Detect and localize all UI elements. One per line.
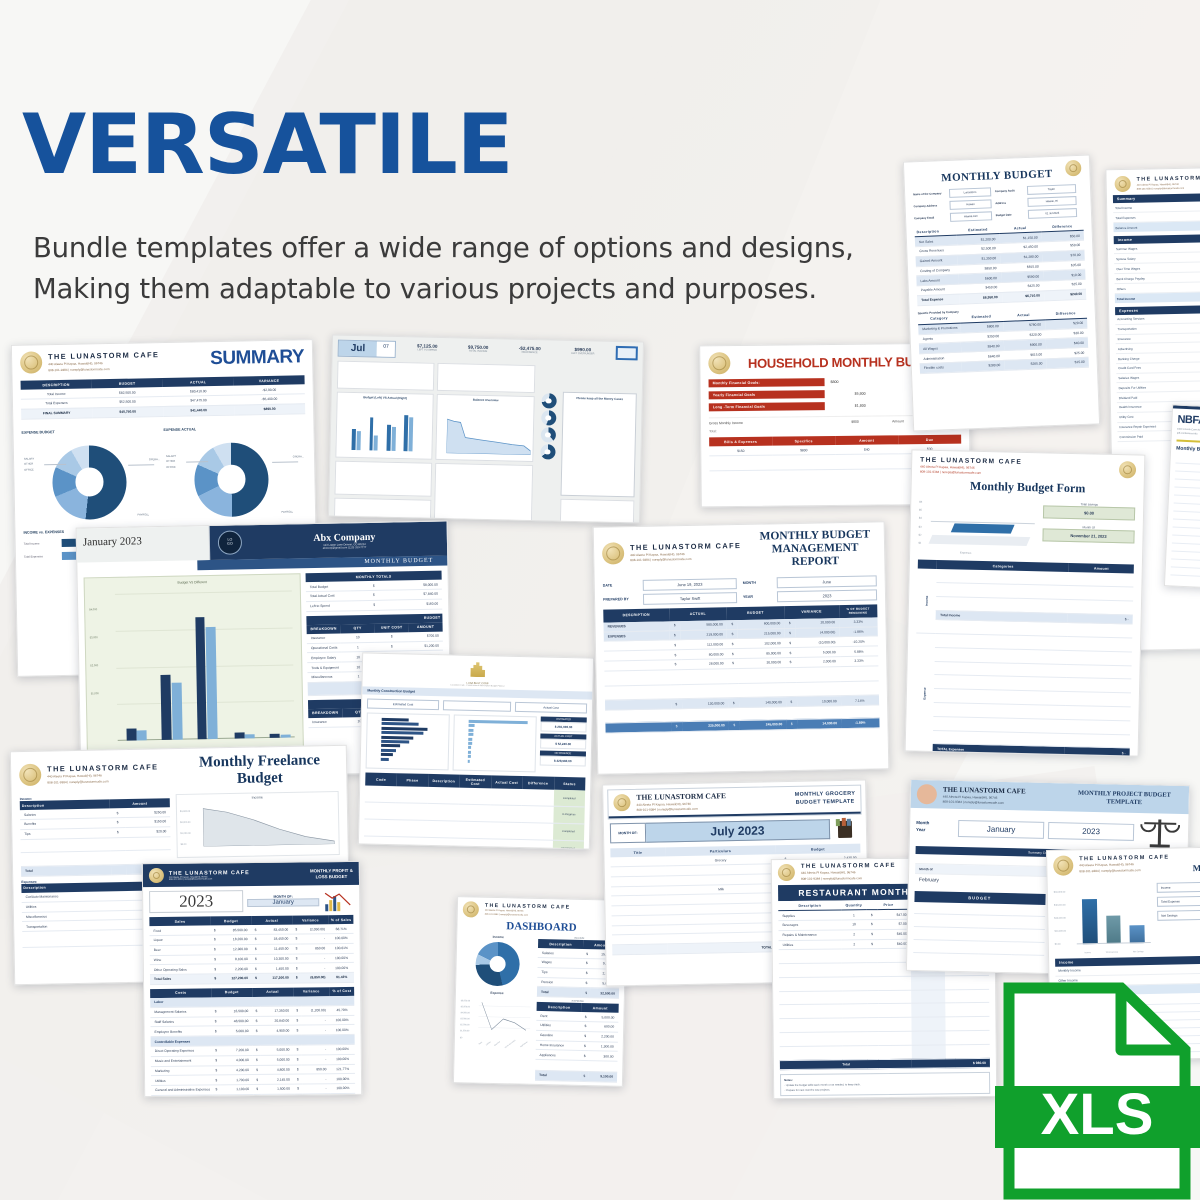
template-construction-budget[interactable]: LUNA BUILT CORP Lunastorm Cafe · Constru… [358, 652, 594, 849]
cell: $ [867, 920, 878, 930]
th: Quantity [841, 900, 866, 910]
cell: $ [866, 910, 877, 920]
pl-banner-1: MONTHLY PROFIT & [310, 868, 353, 874]
table-total-row: Total$9,100.00 [535, 1070, 617, 1082]
kpi-label: TOTAL INCOME [468, 350, 489, 353]
field-value[interactable]: 01 Jul 2023 [1028, 208, 1077, 219]
th: Status [554, 777, 586, 791]
cell: $ [670, 640, 681, 650]
cell: $ [293, 973, 301, 983]
cell: $ [785, 648, 796, 658]
construction-table: Code Phase Description Estimated Cost Ac… [364, 772, 586, 849]
headline-block: VERSATILE [22, 106, 513, 185]
lunastorm-logo-icon [1119, 461, 1136, 478]
cell: 100.00% [329, 933, 354, 943]
field-label: YEAR [743, 595, 773, 600]
y-tick: $3 [919, 523, 922, 531]
cell: $ [867, 929, 878, 939]
field-value[interactable]: Hawaii.com [950, 211, 992, 222]
expense-actual-legend: SALARY OTHER OFFICE [166, 453, 177, 471]
x-tick: Home Insurance [504, 1040, 516, 1049]
template-profit-loss-budget[interactable]: THE LUNASTORM CAFE 440 Aleeta Pl Kapaa, … [142, 861, 362, 1097]
cell: $ [212, 1046, 220, 1056]
kpi-value: $ 281,000.00 [540, 721, 586, 732]
cell: Tools & Equipment [307, 662, 341, 672]
grocery-bag-icon [830, 819, 860, 840]
field[interactable]: Net Savings [1157, 909, 1200, 921]
real-row-label: Monthly Income [1058, 968, 1081, 972]
goal-value: $800 [831, 380, 839, 384]
cell: $ [252, 964, 260, 974]
estimated-cost-button[interactable]: Estimated Cost [367, 699, 439, 711]
cell: 600.00 [589, 1022, 618, 1032]
cell: $ [581, 1051, 589, 1061]
cell: (1,200.00) [301, 1006, 330, 1016]
cell: $265.00 [1004, 359, 1047, 370]
expense-fixed-panel [437, 363, 536, 393]
nbfa-subtitle: Monthly Budget [1176, 445, 1200, 454]
goal-label: Monthly Financial Goals: [709, 378, 825, 387]
cell: 5,000.00 [261, 1045, 294, 1055]
cell: 7,200.00 [220, 1045, 253, 1055]
cell: $ [784, 628, 795, 638]
cell: $ [580, 1071, 588, 1081]
cell: 2,200.00 [589, 1031, 618, 1041]
month-value[interactable]: January [247, 898, 319, 907]
cell: $ [211, 964, 219, 974]
kpi-value: $ 52,240.00 [540, 738, 586, 749]
cell: Other Operating Sales [150, 964, 211, 974]
ledger-total-row: Total Income [1115, 292, 1200, 303]
x-tick: Total Expense [1106, 951, 1119, 953]
cell: $ [293, 1016, 301, 1026]
y-tick: $30,000.00 [1054, 899, 1066, 912]
cell: Employee Benefits [150, 1026, 211, 1036]
cell: 85,500.00 [219, 925, 252, 935]
goal-value: $1,800 [855, 404, 866, 408]
cell: $6,950.00 [959, 292, 1002, 303]
cell: $ [293, 954, 301, 964]
y-tick: $4 [919, 515, 922, 523]
template-dashboard[interactable]: THE LUNASTORM CAFE 440 Aleeta Pl Kapaa, … [453, 896, 627, 1087]
month-value[interactable]: January [958, 819, 1044, 838]
expense-budget-legend-right: OPERA... [149, 458, 160, 461]
cell: $ [583, 958, 591, 968]
grocery-title-2: BUDGET TEMPLATE [795, 799, 856, 808]
cell: $ [727, 649, 738, 659]
project-left-table [913, 902, 1045, 956]
cell: $ 980.00 [912, 1058, 990, 1069]
company-logo-icon [1065, 160, 1082, 177]
status-badge: In Progress [553, 806, 585, 823]
cell: $ [252, 954, 260, 964]
project-label: February [919, 877, 939, 883]
cell: Beer [150, 945, 211, 955]
prepared-by-field[interactable]: Taylor Swift [643, 592, 737, 605]
x-axis-label: Expenses [960, 551, 971, 554]
lunastorm-logo-icon [1053, 855, 1073, 875]
table-total-row: Total $ 980.00 [780, 1058, 990, 1070]
cell: TOTAL: [667, 942, 777, 954]
expense-budget-legend: SALARY OTHER OFFICE [24, 456, 35, 474]
subtitle-line-1: Bundle templates offer a wide range of o… [33, 228, 854, 269]
th: Variance [293, 987, 330, 997]
cell: $40,750.00 [92, 406, 163, 417]
monthly-budget-title: MONTHLY BUDGET [941, 168, 1053, 184]
th: BUDGET [726, 606, 784, 620]
balance-overview-chart: Balance Overview [435, 394, 534, 462]
month-of-label: MONTH OF: [610, 823, 646, 844]
cell: 100.00% [330, 1025, 355, 1035]
chart-title: Budget Vs Different [85, 574, 300, 586]
kpi-label: DIFFERENCE [519, 351, 541, 354]
abx-budget-chart: Budget Vs Different $4,000$3,000$2,000$1… [84, 573, 305, 764]
cell: Insurance [308, 717, 342, 727]
cell: $ [252, 944, 260, 954]
template-jul-dashboard[interactable]: Jul 07 $7,125.00 LEFT TO SPEND $9,750.00… [328, 334, 644, 523]
cell: $ [671, 699, 682, 709]
abx-period: January 2023 [83, 534, 203, 548]
field-value[interactable]: Taylor [1027, 184, 1076, 195]
cell: 14,000.00 [797, 718, 841, 729]
y-tick: $40,000.00 [1054, 886, 1066, 899]
cell: 1,300.00 [589, 1041, 618, 1051]
cell: $ [670, 650, 681, 660]
brand-contact: 808-101-9384 | noreply@lunastormcafe.com [630, 556, 748, 563]
expense-budget-donut-chart [52, 444, 127, 519]
cell: - [301, 963, 330, 973]
cell: Supplies [778, 910, 841, 920]
cell: Marketing [151, 1065, 212, 1075]
cell: $ [294, 1055, 302, 1065]
subtitle-block: Bundle templates offer a wide range of o… [33, 228, 854, 309]
report-title-2: MANAGEMENT REPORT [754, 542, 876, 571]
cell: 4,900.00 [261, 1025, 294, 1035]
cell: $6,710.00 [1001, 291, 1044, 302]
field-label: Name of the Company [913, 192, 947, 196]
cell: $ [727, 629, 738, 639]
bar-label: Total Income [24, 541, 58, 546]
cell: $ - [1065, 747, 1130, 757]
kpi-row: $7,125.00 LEFT TO SPEND $9,750.00 TOTAL … [402, 341, 610, 356]
field-label: PREPARED BY [603, 597, 639, 602]
field-label: Budget Date [996, 213, 1026, 217]
cell: $7.00 [877, 919, 911, 929]
status-badge: Completed [553, 823, 585, 840]
cell: $ [253, 1065, 261, 1075]
cell: $ [212, 1085, 220, 1095]
cell: 9,100.00 [588, 1072, 617, 1082]
x-tick: Net Savings [1133, 951, 1144, 953]
expense-chart-label: Expense [461, 990, 533, 996]
field-label: Address [995, 201, 1025, 205]
cell: Total [537, 987, 582, 998]
cell: 127,200.00 [219, 974, 252, 984]
cell: $ [253, 1075, 261, 1085]
cell: 100.00% [330, 1054, 355, 1064]
month-value[interactable]: July 2023 [646, 819, 830, 843]
chart-title: Income [177, 792, 338, 801]
table-row: Left to Spend$$160.00 [306, 599, 442, 611]
cell: 18,450.00 [260, 934, 293, 944]
cell: 11,450.00 [260, 944, 293, 954]
cell: $ [670, 660, 681, 670]
cell: $ [582, 988, 590, 998]
summary-title: SUMMARY [210, 346, 304, 370]
bills-panel [334, 461, 432, 497]
xls-label: XLS [1041, 1082, 1154, 1147]
cell: 83,450.00 [260, 925, 293, 935]
cell: $ [867, 939, 878, 949]
monthly-budget-table-2: Category Estimated Actual Difference Mar… [918, 308, 1089, 374]
cell: - [301, 1025, 330, 1035]
y-tick: $1 [918, 540, 921, 548]
abx-monthly-totals: MONTHLY TOTALS Total Budget$$8,000.00 To… [306, 571, 443, 612]
field[interactable]: Income [1157, 881, 1200, 893]
goal-label: Yearly Financial Goals [709, 390, 825, 399]
cell: 1,700.00 [220, 1075, 253, 1085]
th: Difference [522, 776, 554, 790]
cell: $ [252, 974, 260, 984]
actual-cost-button[interactable]: Actual Cost [515, 702, 587, 714]
field-value[interactable]: Lunastorm [949, 187, 991, 198]
field-label: MONTH [743, 581, 773, 586]
cell: $ [211, 954, 219, 964]
cell: - [302, 1084, 331, 1094]
lunastorm-logo-icon [613, 794, 630, 811]
lunastorm-logo-icon [602, 542, 624, 564]
cell: 10 [841, 920, 866, 930]
th: ACTUAL [669, 607, 727, 621]
cell: 45.70% [330, 1005, 355, 1015]
cell: $ [211, 1007, 219, 1017]
savings-value: $0.00 [1043, 505, 1135, 520]
income-chart-label: Income [462, 934, 534, 940]
cell: $ [253, 1045, 261, 1055]
cell: 5,000.00 [220, 1026, 253, 1036]
cell: 100.00% [329, 963, 354, 973]
nbfa-title: NBFA [1177, 414, 1200, 429]
cell: Total [535, 1070, 580, 1081]
table-total-row: Total Sales$127,200.00$117,200.00$(6,850… [150, 973, 354, 985]
management-report-table: DESCRIPTION ACTUAL BUDGET VARIANCE % OF … [603, 604, 879, 733]
cell: $ [728, 698, 739, 708]
cell: $ [581, 1031, 589, 1041]
cell: $ [211, 945, 219, 955]
expense-budget-legend-bottom: PAYROLL [137, 513, 149, 516]
cell: $ [211, 974, 219, 984]
cell: Liquor [150, 935, 211, 945]
cell: 1,450.00 [260, 963, 293, 973]
cell: Music and Entertainment [151, 1056, 212, 1066]
cell: $ [294, 1084, 302, 1094]
template-monthly-budget-form[interactable]: THE LUNASTORM CAFE 440 Aleeta Pl Kapaa, … [905, 449, 1146, 756]
cell: $240.00 [1044, 289, 1087, 300]
cell: $ [671, 722, 682, 732]
cell: $280.00 [962, 360, 1005, 371]
cell: 4,800.00 [261, 1065, 294, 1075]
cell: 5,000.00 [261, 1055, 294, 1065]
th: Estimated Cost [459, 775, 491, 789]
cell: General and Administrative Expenses [151, 1085, 212, 1095]
brand-contact: 808-101-9384 | noreply@lunastormcafe.com [1137, 186, 1200, 191]
cell: 300.00 [589, 1051, 618, 1061]
field[interactable]: Total Expense [1157, 895, 1200, 907]
budget-form-table: CategoriesAmount Income Total Income$ - … [914, 560, 1134, 757]
income-panel [337, 361, 435, 391]
cell: Utilities [151, 1075, 212, 1085]
lunastorm-logo-icon [778, 864, 795, 881]
cell: 91.43% [329, 973, 354, 983]
cell: 68.71% [329, 924, 354, 934]
cell: Employee Salary [307, 652, 341, 662]
brand-name: THE LUNASTORM CAFE [1137, 174, 1200, 182]
field-value[interactable]: Hawaii, HI [1027, 196, 1076, 207]
cell: - [301, 1015, 330, 1025]
th: Actual [251, 916, 292, 926]
cell: 100.61% [329, 943, 354, 953]
lunastorm-logo-icon [463, 901, 479, 917]
y-tick: $2 [918, 531, 921, 539]
cell: $41,440.00 [163, 405, 234, 416]
cell: $47.00 [877, 909, 911, 919]
pl-costs-table: CostsBudgetActualVariance% of Cost Labor… [150, 987, 356, 1097]
template-monthly-budget-company[interactable]: MONTHLY BUDGET Name of the Company Lunas… [903, 155, 1100, 432]
cell: 20,840.00 [261, 1016, 294, 1026]
cell: -1.89% [841, 718, 880, 729]
lunastorm-logo-icon [149, 868, 164, 883]
cell: FINAL SUMMARY [21, 408, 92, 419]
expense-actual-legend-bottom: PAYROLL [281, 510, 293, 513]
cell: $ [727, 659, 738, 669]
cell: 12,300.00 [219, 944, 252, 954]
cell: 121.77% [330, 1064, 355, 1074]
cell: 2 [841, 929, 866, 939]
cell: 32,500.00 [590, 988, 619, 998]
cell: Total Expense [917, 294, 960, 305]
expense-actual-legend-right: OPERA... [293, 455, 304, 458]
cell: 4,200.00 [220, 1065, 253, 1075]
scales-icon [1138, 817, 1183, 848]
cell: Beverages [778, 920, 841, 930]
actual-bar-chart [453, 714, 537, 772]
cell: Staff Salaries [150, 1017, 211, 1027]
debts-panel [434, 463, 533, 523]
th: Description [428, 774, 460, 788]
template-budget-management-report[interactable]: THE LUNASTORM CAFE 440 Aleeta Pl Kapaa, … [593, 521, 890, 775]
cell: $ [784, 619, 795, 628]
page-title: VERSATILE [22, 106, 513, 185]
date-field[interactable]: June 19, 2023 [643, 578, 737, 591]
bar-label: Total Expenses [24, 554, 58, 559]
month-field[interactable]: June [777, 575, 877, 588]
real-title-1: REAL [1192, 851, 1200, 863]
cell: $ [293, 1045, 301, 1055]
lunastorm-logo-icon [20, 351, 42, 373]
lunastorm-logo-icon [1115, 176, 1131, 192]
cell: Flexible costs [920, 362, 963, 373]
cell: 100.00% [330, 1074, 355, 1084]
y-tick: $0.00 [1055, 938, 1067, 951]
th: % of Cost [330, 987, 355, 996]
x-tick: Rent [479, 1042, 483, 1046]
summary-table: DESCRIPTION BUDGET ACTUAL VARIANCE Total… [21, 375, 306, 419]
dashboard-income-donut-chart [475, 942, 520, 987]
cell: $ [252, 1006, 260, 1016]
cell: $ [252, 934, 260, 944]
brand-contact: 808-101-9384 | noreply@lunastormcafe.com [1079, 867, 1186, 874]
cell: $ [212, 1075, 220, 1085]
cell: 2,200.00 [219, 964, 252, 974]
th: % of Sales [329, 915, 354, 924]
cell: 225,000.00 [682, 721, 729, 732]
cell: 2,145.00 [261, 1074, 294, 1084]
cell: Wine [150, 954, 211, 964]
cell: Operational Costs [307, 643, 341, 653]
group-label: Income [916, 569, 937, 634]
cell: 48,500.00 [220, 1016, 253, 1026]
month-selector[interactable]: Jul [339, 341, 378, 357]
poster-canvas: VERSATILE Bundle templates offer a wide … [0, 0, 1200, 1200]
cell: Total Sales [150, 974, 211, 984]
cell: 850.00 [302, 1064, 331, 1074]
cell: 100.00% [330, 1015, 355, 1025]
field-label: Company Audit [995, 189, 1025, 193]
x-tick: Income [1084, 952, 1091, 954]
cell: $ [252, 1016, 260, 1026]
brand-contact: 808-101-9384 | noreply@lunastormcafe.com [169, 877, 305, 880]
pl-year: 2023 [149, 890, 243, 913]
group-label: Expense [914, 633, 936, 753]
savings-panel [560, 499, 635, 524]
y-tick: $6 [919, 499, 922, 507]
cell: 100.00% [330, 1044, 355, 1054]
kpi-label: LEFT OVER/UNDER [571, 352, 594, 356]
income-label: Gross Monthly Income [709, 420, 835, 425]
cell: 10,300.00 [260, 954, 293, 964]
th: Code [365, 772, 397, 786]
goal-label: Long -Term Financial Goals [709, 402, 825, 411]
th: Budget [211, 916, 252, 926]
subtitle-line-2: Making them adaptable to various project… [33, 269, 854, 310]
lunastorm-logo-icon [708, 352, 730, 374]
cell: 8,100.00 [219, 954, 252, 964]
income-value: $800 [835, 420, 875, 424]
cell: $ [211, 935, 219, 945]
x-tick: Utilities [486, 1041, 492, 1046]
th: Actual [252, 987, 293, 997]
field-value[interactable]: Hawaii [949, 199, 991, 210]
freelance-title: Monthly Freelance Budget [181, 752, 339, 789]
cell: $ [293, 1006, 301, 1016]
cell: Total [780, 1059, 912, 1070]
xls-file-icon: XLS [995, 982, 1200, 1200]
x-tick: Gasoline [494, 1041, 501, 1047]
cell: $ [292, 944, 300, 954]
y-tick: $5 [919, 507, 922, 515]
cell: $1,200.00 [409, 641, 443, 651]
year-field[interactable]: 2023 [777, 589, 877, 602]
kpi-value: $ 228,560.00 [540, 755, 586, 766]
cell: $ [785, 657, 796, 667]
cell: $ [727, 639, 738, 649]
ledger-row: Balance Amount [1113, 221, 1200, 232]
year-value[interactable]: 2023 [1048, 821, 1134, 840]
cell: $ [292, 934, 300, 944]
field-label: Company Address [914, 204, 948, 208]
cell: $ [582, 968, 590, 978]
cell: 4,000.00 [220, 1055, 253, 1065]
